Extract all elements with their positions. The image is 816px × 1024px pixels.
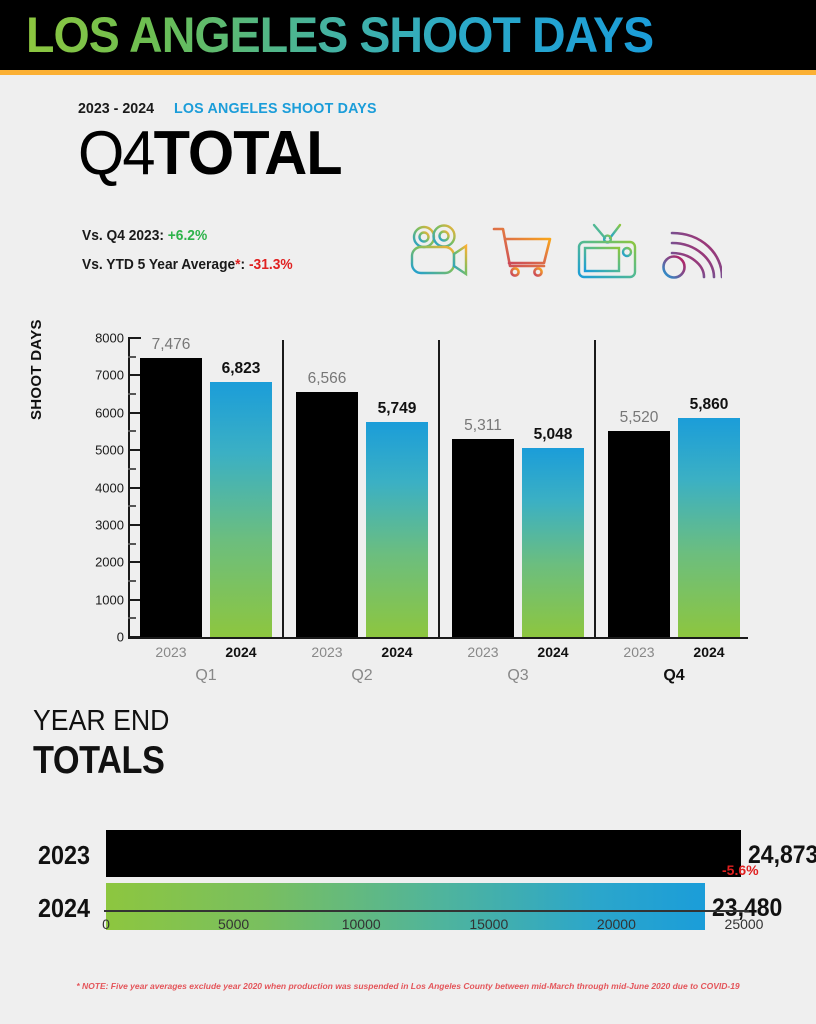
y-tick-minor <box>128 393 136 395</box>
y-tick-minor <box>128 543 136 545</box>
year-end-heading: YEAR END TOTALS <box>33 705 182 783</box>
y-tick-label: 6000 <box>95 405 124 420</box>
year-end-delta: -5.6% <box>722 862 759 878</box>
bar-value-label: 5,860 <box>668 396 750 414</box>
bar-value-label: 5,048 <box>512 426 594 444</box>
quarter-group-divider <box>594 340 596 639</box>
comparison-stats: Vs. Q4 2023: +6.2% Vs. YTD 5 Year Averag… <box>82 228 304 286</box>
y-tick-label: 1000 <box>95 592 124 607</box>
quarter-label-q1: Q1 <box>140 667 272 685</box>
quarter-label-q3: Q3 <box>452 667 584 685</box>
stat-vs-q4-2023: Vs. Q4 2023: +6.2% <box>82 228 293 244</box>
title-block: 2023 - 2024 LOS ANGELES SHOOT DAYS Q4TOT… <box>78 100 387 187</box>
header-divider-rule <box>0 70 816 75</box>
eyebrow-subtitle: LOS ANGELES SHOOT DAYS <box>174 100 377 117</box>
bar-q3-2024 <box>522 448 584 637</box>
streaming-wifi-icon <box>660 216 722 288</box>
bar-year-label: 2024 <box>522 644 584 660</box>
bar-year-label: 2024 <box>210 644 272 660</box>
quarter-label-q2: Q2 <box>296 667 428 685</box>
y-tick-label: 2000 <box>95 555 124 570</box>
bar-year-label: 2023 <box>296 644 358 660</box>
year-end-x-tick-label: 0 <box>102 916 110 932</box>
stat-value: +6.2% <box>168 228 207 244</box>
bar-q1-2024 <box>210 382 272 637</box>
stat-label: Vs. YTD 5 Year Average <box>82 257 235 273</box>
quarter-label-q4: Q4 <box>608 667 740 685</box>
y-tick-label: 3000 <box>95 517 124 532</box>
television-icon <box>576 216 638 288</box>
year-end-x-tick-label: 10000 <box>342 916 381 932</box>
headline: Q4TOTAL <box>78 121 375 187</box>
year-end-row-label-2023: 2023 <box>38 840 90 871</box>
stat-label: Vs. Q4 2023: <box>82 228 164 244</box>
headline-total: TOTAL <box>154 119 342 188</box>
industry-icon-row <box>408 216 722 288</box>
bar-q4-2023 <box>608 431 670 637</box>
bar-year-label: 2023 <box>140 644 202 660</box>
eyebrow-row: 2023 - 2024 LOS ANGELES SHOOT DAYS <box>78 100 387 117</box>
year-end-x-tick-label: 20000 <box>597 916 636 932</box>
year-end-bar-chart: 202324,873202423,480-5.6%050001000015000… <box>0 815 816 945</box>
bar-year-label: 2023 <box>608 644 670 660</box>
year-end-axis-line <box>104 910 749 912</box>
stat-vs-5yr-average: Vs. YTD 5 Year Average*: -31.3% <box>82 257 293 273</box>
y-tick-minor <box>128 430 136 432</box>
bar-q2-2023 <box>296 392 358 637</box>
y-axis-title: SHOOT DAYS <box>28 319 45 420</box>
year-end-row-label-2024: 2024 <box>38 893 90 924</box>
bar-q1-2023 <box>140 358 202 637</box>
shopping-cart-icon <box>492 216 554 288</box>
y-tick-minor <box>128 356 136 358</box>
film-camera-icon <box>408 216 470 288</box>
y-tick-minor <box>128 468 136 470</box>
quarter-group-divider <box>282 340 284 639</box>
y-tick-minor <box>128 580 136 582</box>
bar-year-label: 2023 <box>452 644 514 660</box>
y-tick-label: 4000 <box>95 480 124 495</box>
page-title: LOS ANGELES SHOOT DAYS <box>26 4 653 66</box>
y-tick-minor <box>128 505 136 507</box>
eyebrow-years: 2023 - 2024 <box>78 100 154 117</box>
year-end-x-tick-label: 25000 <box>725 916 764 932</box>
stat-label-tail: : <box>241 257 246 273</box>
y-axis-spine <box>128 338 130 639</box>
y-tick-minor <box>128 617 136 619</box>
bar-value-label: 6,823 <box>200 360 282 378</box>
year-end-heading-line1: YEAR END <box>33 705 170 737</box>
bar-value-label: 5,749 <box>356 400 438 418</box>
year-end-x-tick-label: 5000 <box>218 916 249 932</box>
year-end-x-tick-label: 15000 <box>469 916 508 932</box>
y-tick-label: 8000 <box>95 331 124 346</box>
y-tick-label: 5000 <box>95 443 124 458</box>
footnote-note: * NOTE: Five year averages exclude year … <box>0 981 816 991</box>
y-tick-label: 7000 <box>95 368 124 383</box>
bar-value-label: 6,566 <box>286 370 368 388</box>
y-axis-tick-labels: 800070006000500040003000200010000 <box>74 332 124 640</box>
year-end-bar-2023 <box>106 830 741 877</box>
bar-year-label: 2024 <box>678 644 740 660</box>
header-bar: LOS ANGELES SHOOT DAYS <box>0 0 816 70</box>
bar-q3-2023 <box>452 439 514 637</box>
year-end-heading-line2: TOTALS <box>33 739 164 783</box>
headline-quarter: Q4 <box>78 119 154 188</box>
bar-value-label: 7,476 <box>130 336 212 354</box>
y-tick-label: 0 <box>117 630 124 645</box>
bar-year-label: 2024 <box>366 644 428 660</box>
bar-q4-2024 <box>678 418 740 637</box>
stat-value: -31.3% <box>249 257 293 273</box>
quarter-group-divider <box>438 340 440 639</box>
bar-q2-2024 <box>366 422 428 637</box>
